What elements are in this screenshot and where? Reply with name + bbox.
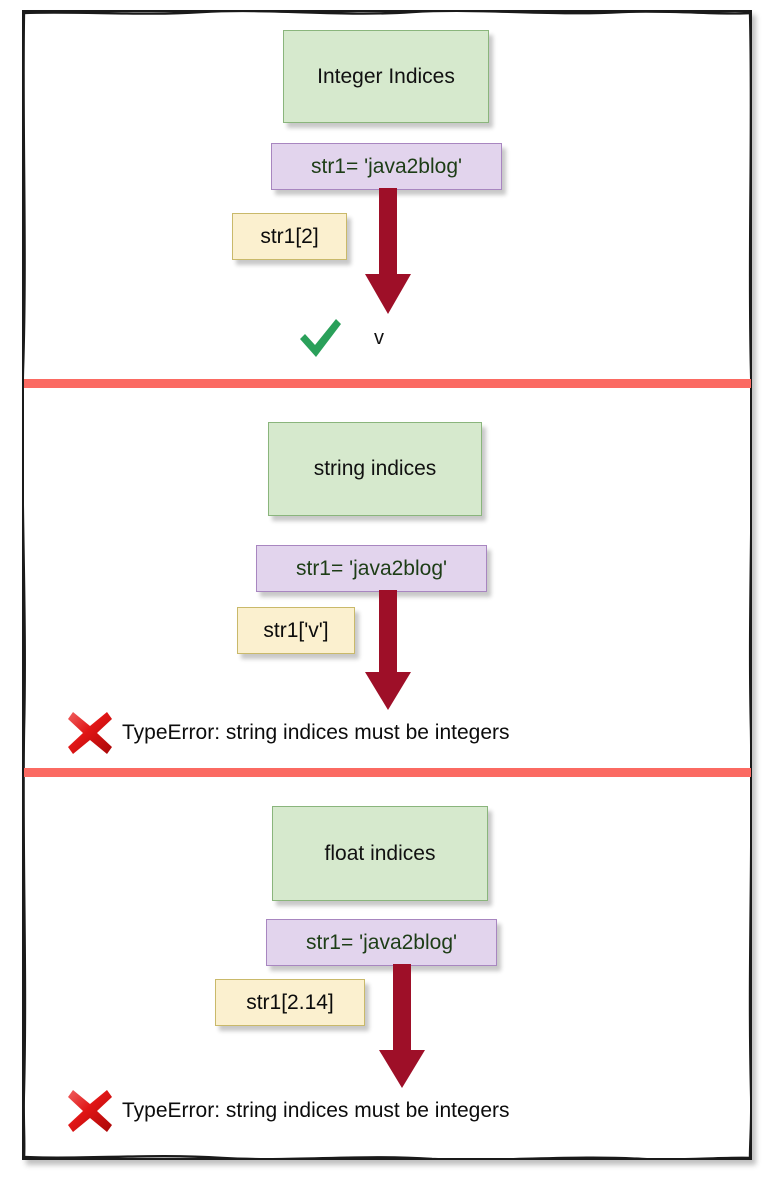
section-heading-label: float indices xyxy=(325,842,436,866)
diagram-canvas: Integer Indices str1= 'java2blog' str1[2… xyxy=(0,0,773,1181)
green-check-icon xyxy=(296,316,344,360)
access-label: str1[2.14] xyxy=(246,991,334,1015)
assignment-label: str1= 'java2blog' xyxy=(306,931,457,955)
access-label: str1[2] xyxy=(260,225,318,249)
red-cross-icon xyxy=(64,708,116,758)
result-row-integer-indices: v xyxy=(296,316,384,360)
assignment-label: str1= 'java2blog' xyxy=(296,557,447,581)
section-heading-label: Integer Indices xyxy=(317,65,455,89)
section-heading-box-string-indices: string indices xyxy=(268,422,482,516)
assignment-label: str1= 'java2blog' xyxy=(311,155,462,179)
flow-arrow-integer-indices xyxy=(362,188,414,316)
access-label: str1['v'] xyxy=(263,619,328,643)
assignment-box-string-indices: str1= 'java2blog' xyxy=(256,545,487,592)
result-value-string-indices: TypeError: string indices must be intege… xyxy=(122,721,510,745)
section-heading-label: string indices xyxy=(314,457,437,481)
result-value-float-indices: TypeError: string indices must be intege… xyxy=(122,1099,510,1123)
result-row-float-indices: TypeError: string indices must be intege… xyxy=(64,1086,510,1136)
result-row-string-indices: TypeError: string indices must be intege… xyxy=(64,708,510,758)
assignment-box-integer-indices: str1= 'java2blog' xyxy=(271,143,502,190)
section-heading-box-integer-indices: Integer Indices xyxy=(283,30,489,123)
flow-arrow-string-indices xyxy=(362,590,414,712)
section-divider-1 xyxy=(24,379,751,388)
access-box-float-indices: str1[2.14] xyxy=(215,979,365,1026)
access-box-string-indices: str1['v'] xyxy=(237,607,355,654)
access-box-integer-indices: str1[2] xyxy=(232,213,347,260)
section-divider-2 xyxy=(24,768,751,777)
result-value-integer-indices: v xyxy=(374,327,384,350)
assignment-box-float-indices: str1= 'java2blog' xyxy=(266,919,497,966)
flow-arrow-float-indices xyxy=(376,964,428,1090)
red-cross-icon xyxy=(64,1086,116,1136)
section-heading-box-float-indices: float indices xyxy=(272,806,488,901)
